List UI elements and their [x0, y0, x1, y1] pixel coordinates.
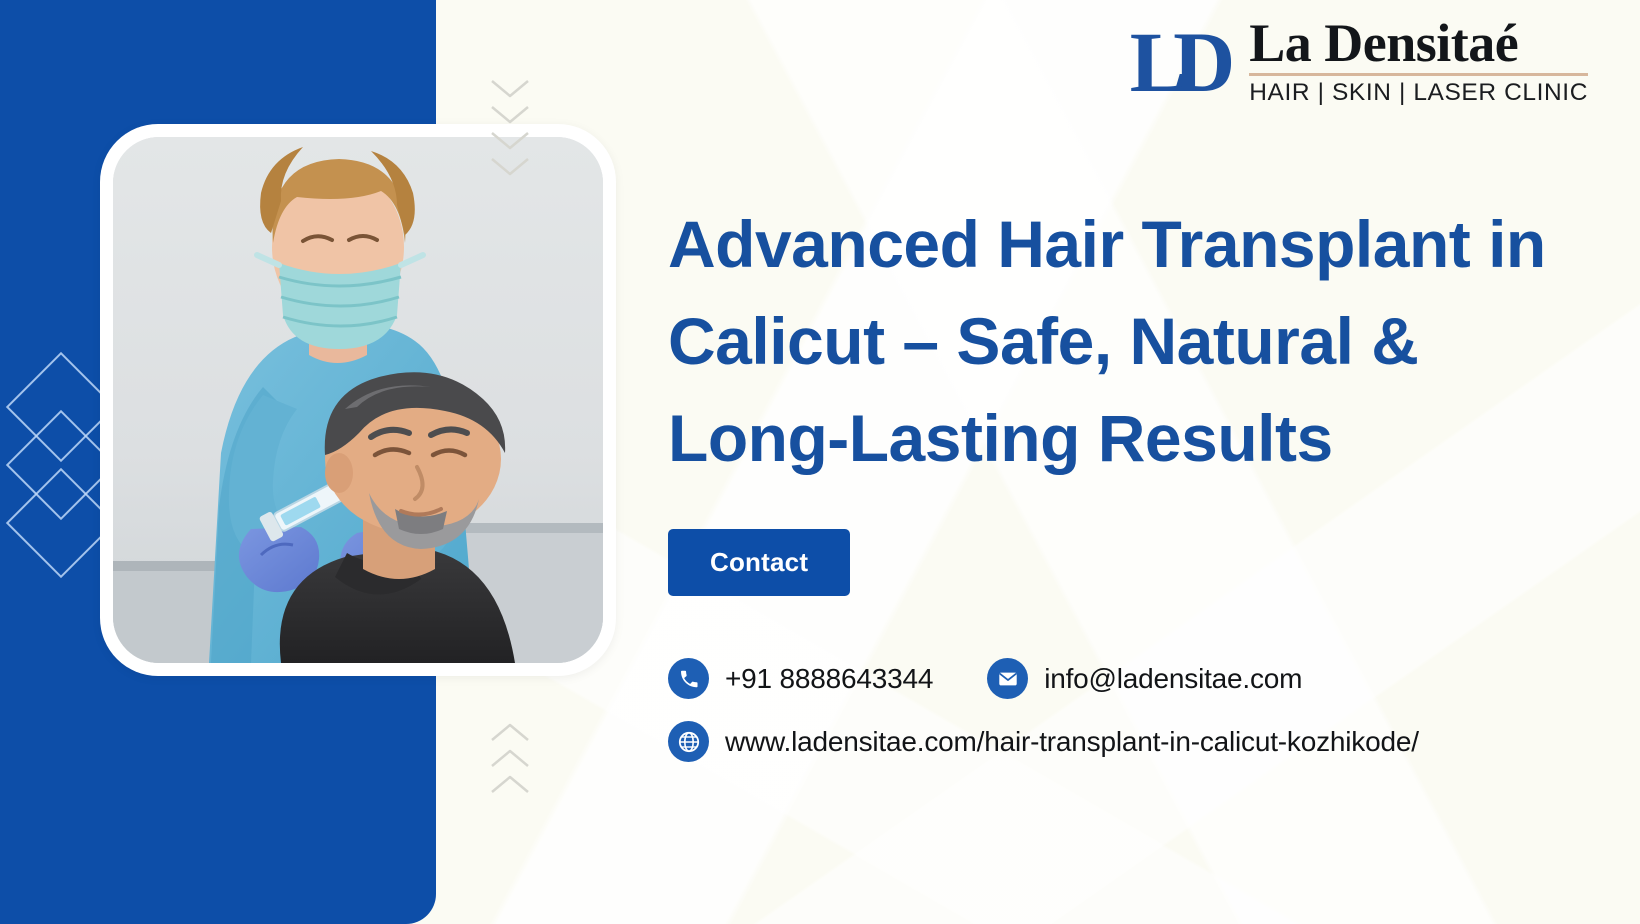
contact-info: +91 8888643344 info@ladensitae.com	[668, 658, 1558, 762]
contact-website[interactable]: www.ladensitae.com/hair-transplant-in-ca…	[668, 721, 1419, 762]
hero-banner: LD La Densitaé HAIR | SKIN | LASER CLINI…	[0, 0, 1640, 924]
phone-number: +91 8888643344	[725, 663, 933, 695]
contact-button[interactable]: Contact	[668, 529, 850, 596]
email-address: info@ladensitae.com	[1044, 663, 1302, 695]
phone-icon	[668, 658, 709, 699]
chevron-up-icon	[489, 748, 531, 770]
globe-icon	[668, 721, 709, 762]
chevron-up-icon	[489, 722, 531, 744]
logo-tagline: HAIR | SKIN | LASER CLINIC	[1249, 79, 1588, 107]
chevron-decoration-bottom	[489, 722, 531, 800]
contact-phone[interactable]: +91 8888643344	[668, 658, 933, 699]
diamond-decoration-group	[22, 368, 100, 562]
chevron-down-icon	[489, 104, 531, 126]
contact-row-primary: +91 8888643344 info@ladensitae.com	[668, 658, 1558, 699]
hero-photo-card	[100, 124, 616, 676]
hero-photo	[113, 137, 603, 663]
page-title: Advanced Hair Transplant in Calicut – Sa…	[668, 196, 1548, 487]
cta-container: Contact	[668, 529, 1558, 596]
website-url: www.ladensitae.com/hair-transplant-in-ca…	[725, 726, 1419, 758]
logo-wordmark-group: La Densitaé HAIR | SKIN | LASER CLINIC	[1249, 16, 1588, 107]
contact-row-website: www.ladensitae.com/hair-transplant-in-ca…	[668, 721, 1558, 762]
chevron-down-icon	[489, 78, 531, 100]
logo-divider-rule	[1249, 73, 1588, 76]
hero-content: Advanced Hair Transplant in Calicut – Sa…	[668, 196, 1558, 784]
contact-email[interactable]: info@ladensitae.com	[987, 658, 1302, 699]
logo-brand-name: La Densitaé	[1249, 16, 1588, 70]
email-icon	[987, 658, 1028, 699]
logo-monogram: LD	[1130, 19, 1235, 105]
clinic-treatment-illustration	[113, 137, 603, 663]
brand-logo: LD La Densitaé HAIR | SKIN | LASER CLINI…	[1130, 16, 1588, 107]
chevron-up-icon	[489, 774, 531, 796]
